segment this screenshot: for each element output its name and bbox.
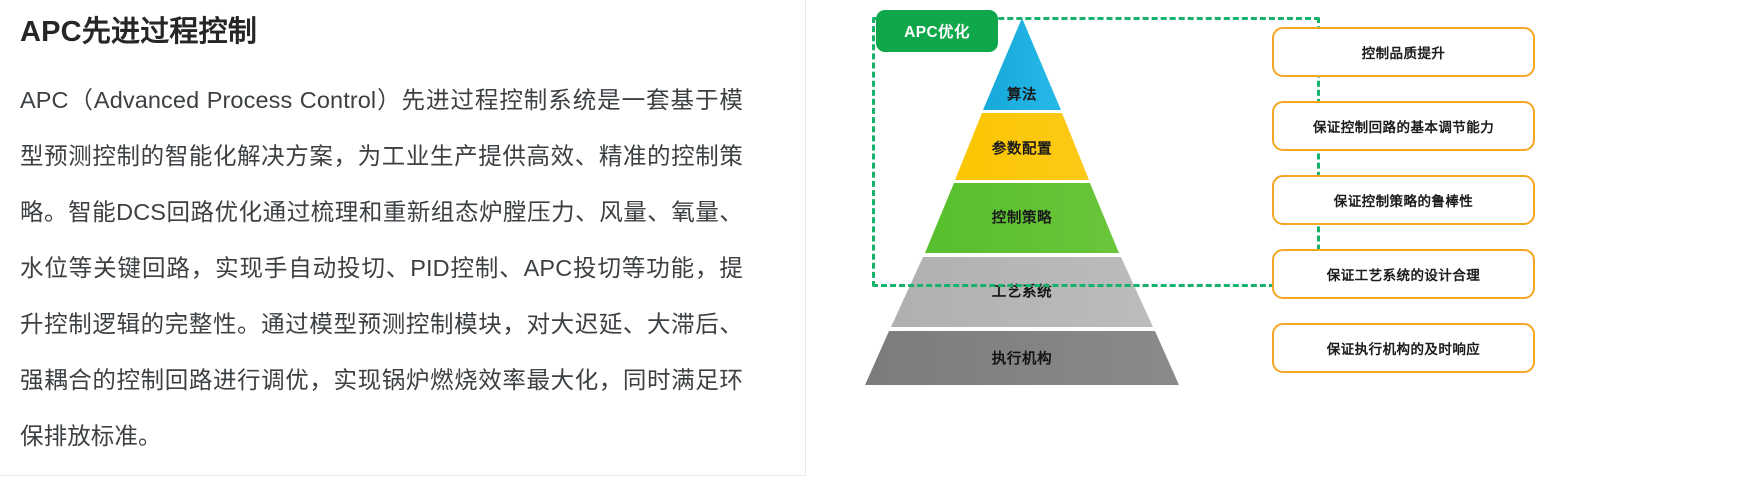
description-paragraph: APC（Advanced Process Control）先进过程控制系统是一套… [20, 72, 743, 464]
benefit-card[interactable]: 保证控制回路的基本调节能力 [1272, 101, 1535, 151]
pyramid-tier-5 [865, 331, 1179, 385]
benefit-cards-column: 控制品质提升 保证控制回路的基本调节能力 保证控制策略的鲁棒性 保证工艺系统的设… [1272, 0, 1760, 502]
benefit-card-label: 保证控制回路的基本调节能力 [1313, 116, 1494, 136]
apc-badge-label: APC优化 [904, 20, 970, 42]
apc-scope-dashed-box [872, 17, 1320, 287]
benefit-card-label: 保证工艺系统的设计合理 [1327, 264, 1480, 284]
benefit-card-label: 控制品质提升 [1362, 42, 1446, 62]
benefit-card-label: 保证执行机构的及时响应 [1327, 338, 1480, 358]
description-panel: APC先进过程控制 APC（Advanced Process Control）先… [0, 0, 806, 476]
benefit-card[interactable]: 保证控制策略的鲁棒性 [1272, 175, 1535, 225]
benefit-card-label: 保证控制策略的鲁棒性 [1334, 190, 1474, 210]
apc-overview-page: APC先进过程控制 APC（Advanced Process Control）先… [0, 0, 1760, 502]
benefit-card[interactable]: 控制品质提升 [1272, 27, 1535, 77]
apc-optimization-badge: APC优化 [876, 10, 998, 52]
benefit-card[interactable]: 保证工艺系统的设计合理 [1272, 249, 1535, 299]
page-title: APC先进过程控制 [20, 14, 743, 50]
benefit-card[interactable]: 保证执行机构的及时响应 [1272, 323, 1535, 373]
